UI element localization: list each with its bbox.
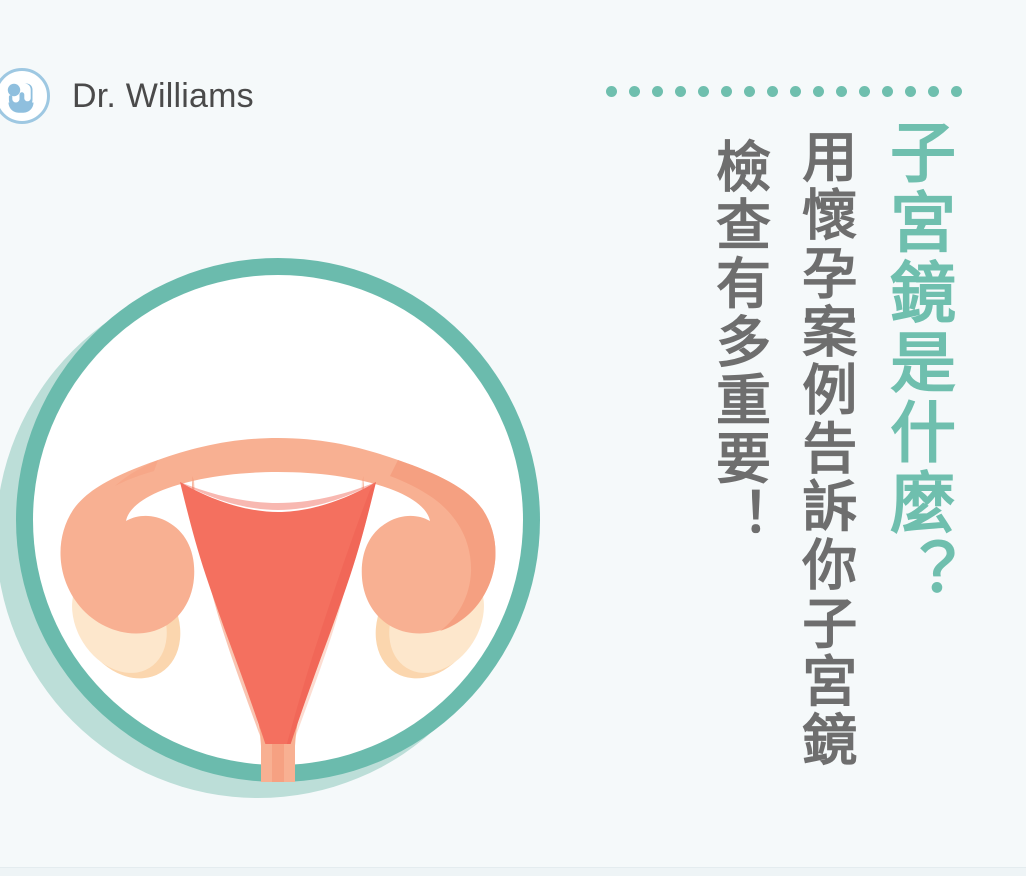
dot-icon (675, 86, 686, 97)
dot-icon (813, 86, 824, 97)
dot-icon (951, 86, 962, 97)
dot-icon (652, 86, 663, 97)
headline-column-question: 子宮鏡是什麼？ (879, 118, 956, 608)
dot-icon (767, 86, 778, 97)
dot-icon (629, 86, 640, 97)
slide-canvas: Dr. Williams 檢查有多重要！ 用懷孕案例告訴你子宮鏡 子宮鏡是什麼？ (0, 0, 1026, 876)
dot-icon (905, 86, 916, 97)
headline-block: 檢查有多重要！ 用懷孕案例告訴你子宮鏡 子宮鏡是什麼？ (706, 118, 956, 769)
dotted-rule-decoration (606, 86, 962, 97)
dot-icon (744, 86, 755, 97)
brand-name: Dr. Williams (72, 79, 254, 113)
dot-icon (859, 86, 870, 97)
footer-strip (0, 868, 1026, 876)
headline-column-tail: 檢查有多重要！ (706, 138, 770, 546)
baby-face-circle-icon (0, 68, 50, 124)
brand-lockup: Dr. Williams (0, 68, 254, 124)
dot-icon (606, 86, 617, 97)
uterus-anatomy-illustration (0, 248, 570, 808)
dot-icon (721, 86, 732, 97)
dot-icon (928, 86, 939, 97)
dot-icon (790, 86, 801, 97)
dot-icon (836, 86, 847, 97)
dot-icon (698, 86, 709, 97)
headline-column-lead: 用懷孕案例告訴你子宮鏡 (792, 128, 856, 769)
dot-icon (882, 86, 893, 97)
